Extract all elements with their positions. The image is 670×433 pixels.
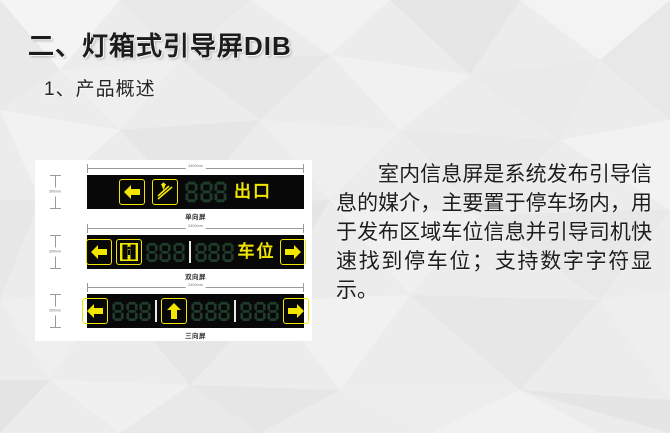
seven-segment-digit bbox=[208, 242, 220, 263]
panel-caption: 单向屏 bbox=[87, 211, 304, 221]
divider bbox=[189, 241, 191, 263]
seven-segment-digit bbox=[191, 301, 203, 322]
seven-segment-digit bbox=[112, 301, 124, 322]
led-board-two-way: 车位 bbox=[87, 235, 304, 269]
divider bbox=[234, 300, 236, 322]
led-digits-group bbox=[191, 301, 230, 322]
height-dimension: 300mm bbox=[39, 294, 83, 328]
seven-segment-digit bbox=[173, 242, 185, 263]
led-digits-group bbox=[185, 181, 227, 203]
arrow-right-icon bbox=[283, 298, 309, 324]
seven-segment-digit bbox=[146, 242, 158, 263]
seven-segment-digit bbox=[214, 181, 227, 203]
led-board-three-way bbox=[87, 294, 304, 328]
seven-segment-digit bbox=[267, 301, 279, 322]
width-dimension: 2400mm bbox=[87, 224, 304, 233]
seven-segment-digit bbox=[185, 181, 198, 203]
seven-segment-digit bbox=[254, 301, 266, 322]
product-figure-card: 2400mm 300mm bbox=[35, 160, 312, 341]
height-dimension: 300mm bbox=[39, 235, 83, 269]
section-subtitle: 1、产品概述 bbox=[44, 74, 156, 101]
seven-segment-digit bbox=[205, 301, 217, 322]
seven-segment-digit bbox=[195, 242, 207, 263]
seven-segment-digit bbox=[222, 242, 234, 263]
parking-space-label: 车位 bbox=[238, 244, 276, 261]
seven-segment-digit bbox=[159, 242, 171, 263]
width-dimension-label: 2400mm bbox=[185, 162, 206, 170]
elevator-icon bbox=[116, 239, 142, 265]
height-dimension-label: 300mm bbox=[49, 188, 61, 197]
seven-segment-digit bbox=[218, 301, 230, 322]
width-dimension: 2400mm bbox=[87, 283, 304, 292]
exit-label: 出口 bbox=[234, 184, 272, 201]
led-digits-group bbox=[240, 301, 279, 322]
height-dimension: 300mm bbox=[39, 175, 83, 209]
panel-caption: 双向屏 bbox=[87, 271, 304, 281]
arrow-right-icon bbox=[280, 239, 306, 265]
led-digits-group bbox=[112, 301, 151, 322]
escalator-icon bbox=[152, 179, 178, 205]
arrow-left-icon bbox=[82, 298, 108, 324]
product-description-text: 室内信息屏是系统发布引导信息的媒介，主要置于停车场内，用于发布区域车位信息并引导… bbox=[336, 160, 652, 305]
width-dimension: 2400mm bbox=[87, 164, 304, 173]
width-dimension-label: 2400mm bbox=[185, 281, 206, 289]
height-dimension-label: 300mm bbox=[49, 248, 61, 257]
seven-segment-digit bbox=[126, 301, 138, 322]
seven-segment-digit bbox=[200, 181, 213, 203]
arrow-left-icon bbox=[86, 239, 112, 265]
arrow-up-icon bbox=[161, 298, 187, 324]
width-dimension-label: 2400mm bbox=[185, 222, 206, 230]
seven-segment-digit bbox=[139, 301, 151, 322]
seven-segment-digit bbox=[240, 301, 252, 322]
page-title: 二、灯箱式引导屏DIB bbox=[28, 26, 292, 63]
led-digits-group bbox=[146, 242, 185, 263]
height-dimension-label: 300mm bbox=[49, 307, 61, 316]
led-board-one-way: 出口 bbox=[87, 175, 304, 209]
arrow-left-icon bbox=[119, 179, 145, 205]
panel-caption: 三向屏 bbox=[87, 330, 304, 340]
divider bbox=[155, 300, 157, 322]
led-digits-group bbox=[195, 242, 234, 263]
